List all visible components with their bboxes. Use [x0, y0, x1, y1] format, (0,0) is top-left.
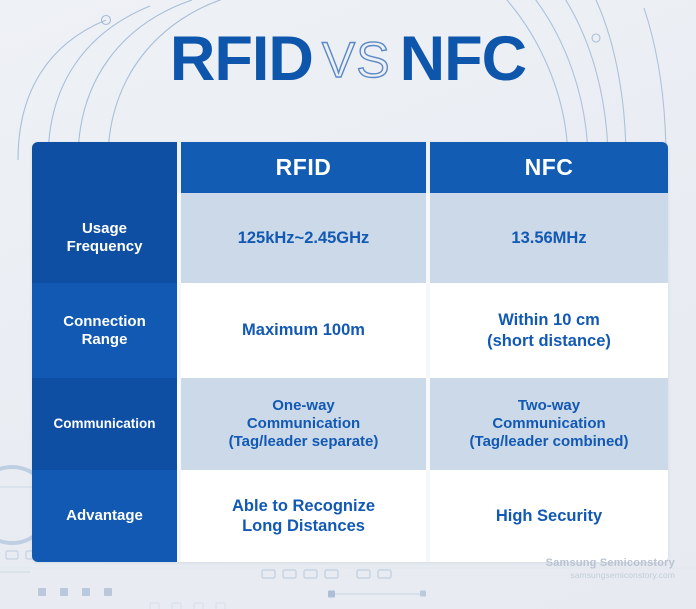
row-label-advantage: Advantage [32, 470, 177, 562]
title-vs: VS [322, 32, 391, 88]
cell-nfc-communication: Two-way Communication (Tag/leader combin… [430, 378, 668, 470]
brand-name: Samsung Semiconstory [546, 557, 675, 571]
row-label-line: Usage [67, 220, 143, 238]
cell-line: Communication [229, 415, 379, 433]
row-label-line: Connection [63, 313, 146, 331]
cell-nfc-connection-range: Within 10 cm (short distance) [430, 283, 668, 378]
footer-branding: Samsung Semiconstory samsungsemiconstory… [546, 557, 675, 581]
cell-line: (short distance) [487, 331, 611, 351]
title-nfc: NFC [400, 24, 526, 94]
cell-line: (Tag/leader combined) [470, 433, 629, 451]
cell-line: Two-way [470, 397, 629, 415]
row-label-line: Communication [53, 416, 155, 432]
cell-rfid-communication: One-way Communication (Tag/leader separa… [181, 378, 426, 470]
infographic-canvas: RFIDVSNFC RFID NFC Usage Frequency 125kH… [0, 0, 696, 609]
cell-rfid-advantage: Able to Recognize Long Distances [181, 470, 426, 562]
column-header-rfid: RFID [181, 142, 426, 193]
cell-rfid-connection-range: Maximum 100m [181, 283, 426, 378]
row-label-connection-range: Connection Range [32, 283, 177, 378]
cell-rfid-usage-frequency: 125kHz~2.45GHz [181, 193, 426, 283]
row-label-line: Range [63, 331, 146, 349]
cell-line: Long Distances [232, 516, 375, 536]
page-title: RFIDVSNFC [0, 28, 696, 91]
title-rfid: RFID [170, 24, 313, 94]
row-label-line: Advantage [66, 507, 143, 525]
column-header-nfc: NFC [430, 142, 668, 193]
cell-line: Able to Recognize [232, 496, 375, 516]
cell-line: One-way [229, 397, 379, 415]
comparison-table: RFID NFC Usage Frequency 125kHz~2.45GHz … [32, 142, 668, 562]
cell-line: (Tag/leader separate) [229, 433, 379, 451]
brand-url: samsungsemiconstory.com [546, 570, 675, 581]
cell-nfc-advantage: High Security [430, 470, 668, 562]
row-label-usage-frequency: Usage Frequency [32, 193, 177, 283]
cell-line: Within 10 cm [487, 310, 611, 330]
row-label-line: Frequency [67, 238, 143, 256]
table-corner-cell [32, 142, 177, 193]
row-label-communication: Communication [32, 378, 177, 470]
cell-nfc-usage-frequency: 13.56MHz [430, 193, 668, 283]
cell-line: Communication [470, 415, 629, 433]
